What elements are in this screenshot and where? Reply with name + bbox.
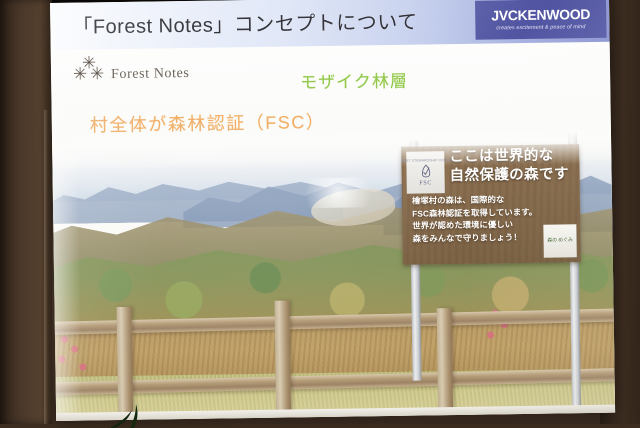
signboard-sub-plate: 森の めぐみ — [543, 224, 576, 257]
signboard-headline-line-2: 自然保護の森です — [449, 165, 575, 185]
signboard-body-line: 森をみんなで守りましょう！ — [412, 230, 562, 245]
signboard-sub-plate-text: 森の めぐみ — [547, 238, 572, 244]
page-title: 「Forest Notes」コンセプトについて — [72, 6, 418, 40]
brand-name: JVCKENWOOD — [491, 7, 590, 22]
tree-checkmark-icon — [419, 164, 432, 179]
label-village-fsc-certified: 村全体が森林認証（FSC） — [90, 108, 326, 137]
slide-photo: FOREST STEWARDSHIP COUNCIL FSC ここは世界的な 自… — [52, 130, 615, 421]
brand-logo-jvckenwood: JVCKENWOOD creates excitement & peace of… — [475, 0, 607, 40]
slide-body: ✳ ✳ ✳ Forest Notes モザイク林層 村全体が森林認証（FSC） — [51, 42, 615, 421]
pillar-highlight-edge — [44, 110, 48, 424]
label-mosaic-forest-layer: モザイク林層 — [300, 67, 408, 94]
photo-valley-haze — [293, 177, 383, 208]
photo-left-fade — [52, 138, 82, 421]
forest-notes-wordmark: Forest Notes — [111, 66, 190, 85]
forest-notes-mark: ✳ ✳ ✳ — [73, 57, 109, 86]
photo-fence-post — [274, 300, 291, 420]
slide-title-band: 「Forest Notes」コンセプトについて JVCKENWOOD creat… — [50, 0, 610, 50]
signboard-body-text: 檜塚村の森は、国際的な FSC森林認証を取得しています。 世界が認めた環境に優し… — [412, 192, 563, 245]
projection-screen: ✳ ✳ ✳ Forest Notes モザイク林層 村全体が森林認証（FSC） — [50, 0, 615, 421]
photo-blossom — [487, 331, 494, 338]
forest-notes-logo: ✳ ✳ ✳ Forest Notes — [73, 56, 190, 86]
asterisk-icon: ✳ — [90, 66, 105, 83]
photo-fence-post — [437, 308, 454, 410]
fsc-logo-word: FSC — [419, 180, 432, 186]
asterisk-icon: ✳ — [73, 66, 88, 83]
brand-tagline: creates excitement & peace of mind — [496, 24, 585, 31]
